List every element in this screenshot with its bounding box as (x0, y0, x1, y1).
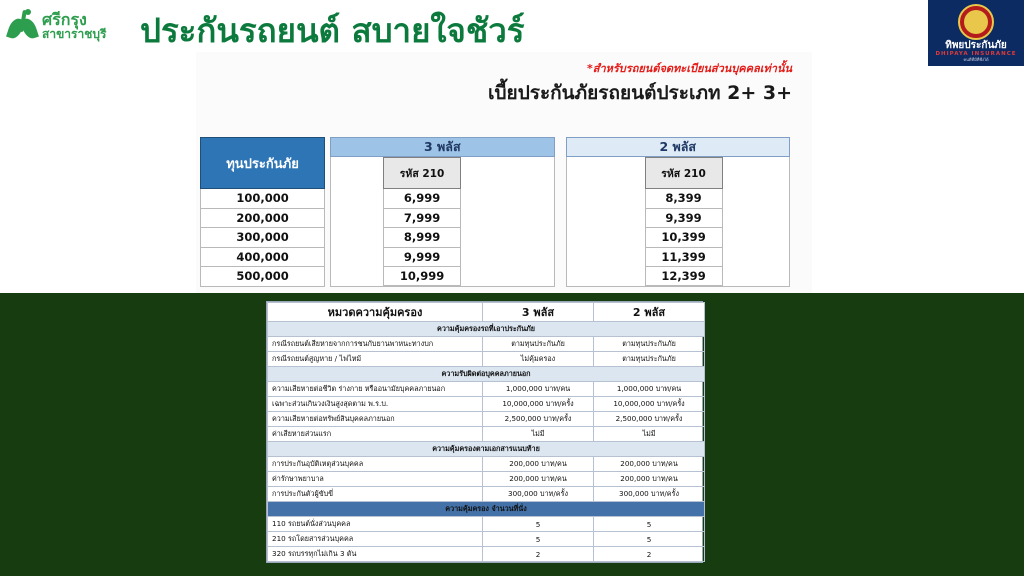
coverage-row-3plus-value: 300,000 บาท/ครั้ง (483, 487, 594, 502)
coverage-row-2plus-value: 10,000,000 บาท/ครั้ง (594, 397, 705, 412)
premium-panel: *สำหรับรถยนต์จดทะเบียนส่วนบุคคลเท่านั้น … (196, 52, 812, 293)
premium-3plus-value: 6,999 (383, 189, 461, 209)
insurer-logo: ทิพยประกันภัย DHIPAYA INSURANCE คนดีที่ม… (928, 0, 1024, 66)
coverage-row-label: การประกันอุบัติเหตุส่วนบุคคล (268, 457, 483, 472)
coverage-row-label: 320 รถบรรทุกไม่เกิน 3 ตัน (268, 547, 483, 562)
coverage-row-2plus-value: 200,000 บาท/คน (594, 472, 705, 487)
coverage-col-header-1: หมวดความคุ้มครอง (268, 303, 483, 322)
coverage-row-label: ค่าเสียหายส่วนแรก (268, 427, 483, 442)
agency-name-line2: สาขาราชบุรี (42, 28, 106, 40)
coverage-row-2plus-value: 300,000 บาท/ครั้ง (594, 487, 705, 502)
insurer-seal-icon (958, 4, 994, 40)
agency-logo: ศรีกรุง สาขาราชบุรี (0, 0, 130, 52)
premium-sum-insured-cell: 200,000 (200, 209, 325, 229)
coverage-row-2plus-value: ไม่มี (594, 427, 705, 442)
premium-3plus-cell-wrap: 10,999 (330, 267, 554, 287)
coverage-table-row: กรณีรถยนต์สูญหาย / ไฟไหม้ไม่คุ้มครองตามท… (268, 352, 705, 367)
premium-code-2plus: รหัส 210 (645, 157, 723, 189)
coverage-section-row: ความรับผิดต่อบุคคลภายนอก (268, 367, 705, 382)
premium-code-row-2plus: รหัส 210 (566, 157, 790, 189)
premium-3plus-cell-wrap: 6,999 (330, 189, 554, 209)
coverage-col-header-2: 3 พลัส (483, 303, 594, 322)
panel-heading: เบี้ยประกันภัยรถยนต์ประเภท 2+ 3+ (488, 78, 792, 108)
coverage-row-2plus-value: 2,500,000 บาท/ครั้ง (594, 412, 705, 427)
coverage-row-3plus-value: 5 (483, 517, 594, 532)
insurer-tagline: คนดีที่มีที่พึ่งได้ (963, 58, 988, 62)
coverage-row-3plus-value: ไม่คุ้มครอง (483, 352, 594, 367)
premium-2plus-value: 8,399 (645, 189, 723, 209)
coverage-section-row: ความคุ้มครอง จำนวนที่นั่ง (268, 502, 705, 517)
coverage-table-row: ค่าเสียหายส่วนแรกไม่มีไม่มี (268, 427, 705, 442)
premium-3plus-cell-wrap: 7,999 (330, 209, 554, 229)
slide-canvas: ศรีกรุง สาขาราชบุรี ประกันรถยนต์ สบายใจช… (0, 0, 1024, 576)
coverage-table-row: ความเสียหายต่อทรัพย์สินบุคคลภายนอก2,500,… (268, 412, 705, 427)
coverage-row-3plus-value: 1,000,000 บาท/คน (483, 382, 594, 397)
coverage-row-3plus-value: 10,000,000 บาท/ครั้ง (483, 397, 594, 412)
coverage-row-3plus-value: 200,000 บาท/คน (483, 472, 594, 487)
coverage-table: หมวดความคุ้มครอง3 พลัส2 พลัส ความคุ้มครอ… (266, 301, 703, 563)
coverage-row-2plus-value: 200,000 บาท/คน (594, 457, 705, 472)
premium-table-row: 200,0007,9999,399 (200, 209, 790, 229)
coverage-row-label: 110 รถยนต์นั่งส่วนบุคคล (268, 517, 483, 532)
coverage-section-row: ความคุ้มครองตามเอกสารแนบท้าย (268, 442, 705, 457)
coverage-table-row: เฉพาะส่วนเกินวงเงินสูงสุดตาม พ.ร.บ.10,00… (268, 397, 705, 412)
premium-group-2plus: 2 พลัส รหัส 210 (566, 137, 790, 189)
coverage-row-3plus-value: 2 (483, 547, 594, 562)
premium-3plus-cell-wrap: 8,999 (330, 228, 554, 248)
coverage-row-label: ความเสียหายต่อทรัพย์สินบุคคลภายนอก (268, 412, 483, 427)
premium-2plus-cell-wrap: 12,399 (566, 267, 790, 287)
coverage-table-row: 210 รถโดยสารส่วนบุคคล55 (268, 532, 705, 547)
coverage-row-2plus-value: ตามทุนประกันภัย (594, 337, 705, 352)
premium-2plus-cell-wrap: 11,399 (566, 248, 790, 268)
coverage-table-header-row: หมวดความคุ้มครอง3 พลัส2 พลัส (268, 303, 705, 322)
panel-note: *สำหรับรถยนต์จดทะเบียนส่วนบุคคลเท่านั้น (587, 59, 792, 77)
premium-group-3plus-label: 3 พลัส (330, 137, 554, 157)
premium-3plus-value: 8,999 (383, 228, 461, 248)
coverage-table-row: การประกันตัวผู้ขับขี่300,000 บาท/ครั้ง30… (268, 487, 705, 502)
coverage-table-row: 320 รถบรรทุกไม่เกิน 3 ตัน22 (268, 547, 705, 562)
premium-table-row: 400,0009,99911,399 (200, 248, 790, 268)
coverage-table-row: กรณีรถยนต์เสียหายจากการชนกับยานพาหนะทางบ… (268, 337, 705, 352)
coverage-row-2plus-value: ตามทุนประกันภัย (594, 352, 705, 367)
premium-2plus-value: 12,399 (645, 267, 723, 286)
premium-group-2plus-label: 2 พลัส (566, 137, 790, 157)
coverage-row-3plus-value: ตามทุนประกันภัย (483, 337, 594, 352)
coverage-row-label: การประกันตัวผู้ขับขี่ (268, 487, 483, 502)
agency-name-line1: ศรีกรุง (42, 12, 106, 28)
premium-sum-insured-header: ทุนประกันภัย (200, 137, 325, 189)
premium-table-group-header-row: ทุนประกันภัย 3 พลัส รหัส 210 2 พลัส รหัส… (200, 137, 790, 189)
premium-sum-insured-cell: 500,000 (200, 267, 325, 287)
premium-table-body: 100,0006,9998,399200,0007,9999,399300,00… (200, 189, 790, 287)
coverage-section-row: ความคุ้มครองรถที่เอาประกันภัย (268, 322, 705, 337)
coverage-row-2plus-value: 5 (594, 532, 705, 547)
premium-2plus-cell-wrap: 10,399 (566, 228, 790, 248)
premium-2plus-value: 9,399 (645, 209, 723, 229)
premium-3plus-value: 10,999 (383, 267, 461, 286)
premium-2plus-value: 11,399 (645, 248, 723, 268)
premium-sum-insured-cell: 300,000 (200, 228, 325, 248)
premium-3plus-value: 9,999 (383, 248, 461, 268)
premium-group-3plus: 3 พลัส รหัส 210 (330, 137, 554, 189)
premium-3plus-value: 7,999 (383, 209, 461, 229)
premium-code-row-3plus: รหัส 210 (330, 157, 554, 189)
coverage-row-label: เฉพาะส่วนเกินวงเงินสูงสุดตาม พ.ร.บ. (268, 397, 483, 412)
premium-sum-insured-cell: 100,000 (200, 189, 325, 209)
coverage-row-2plus-value: 1,000,000 บาท/คน (594, 382, 705, 397)
coverage-row-label: กรณีรถยนต์สูญหาย / ไฟไหม้ (268, 352, 483, 367)
coverage-row-2plus-value: 2 (594, 547, 705, 562)
coverage-row-label: ความเสียหายต่อชีวิต ร่างกาย หรืออนามัยบุ… (268, 382, 483, 397)
coverage-row-3plus-value: ไม่มี (483, 427, 594, 442)
coverage-table-body: ความคุ้มครองรถที่เอาประกันภัยกรณีรถยนต์เ… (268, 322, 705, 562)
premium-2plus-value: 10,399 (645, 228, 723, 248)
coverage-row-3plus-value: 2,500,000 บาท/ครั้ง (483, 412, 594, 427)
premium-table-row: 100,0006,9998,399 (200, 189, 790, 209)
coverage-section-title: ความรับผิดต่อบุคคลภายนอก (268, 367, 705, 382)
coverage-table-row: 110 รถยนต์นั่งส่วนบุคคล55 (268, 517, 705, 532)
premium-table-row: 300,0008,99910,399 (200, 228, 790, 248)
premium-2plus-cell-wrap: 8,399 (566, 189, 790, 209)
coverage-row-label: ค่ารักษาพยาบาล (268, 472, 483, 487)
coverage-row-2plus-value: 5 (594, 517, 705, 532)
coverage-col-header-3: 2 พลัส (594, 303, 705, 322)
coverage-table-row: ความเสียหายต่อชีวิต ร่างกาย หรืออนามัยบุ… (268, 382, 705, 397)
coverage-section-title: ความคุ้มครองรถที่เอาประกันภัย (268, 322, 705, 337)
premium-2plus-cell-wrap: 9,399 (566, 209, 790, 229)
coverage-section-title: ความคุ้มครอง จำนวนที่นั่ง (268, 502, 705, 517)
insurer-name-th: ทิพยประกันภัย (945, 41, 1006, 51)
leaf-icon (8, 10, 38, 42)
coverage-row-3plus-value: 200,000 บาท/คน (483, 457, 594, 472)
coverage-row-label: 210 รถโดยสารส่วนบุคคล (268, 532, 483, 547)
premium-table-row: 500,00010,99912,399 (200, 267, 790, 287)
agency-name: ศรีกรุง สาขาราชบุรี (42, 12, 106, 41)
coverage-table-row: การประกันอุบัติเหตุส่วนบุคคล200,000 บาท/… (268, 457, 705, 472)
page-title: ประกันรถยนต์ สบายใจชัวร์ (140, 4, 525, 57)
coverage-table-row: ค่ารักษาพยาบาล200,000 บาท/คน200,000 บาท/… (268, 472, 705, 487)
premium-sum-insured-cell: 400,000 (200, 248, 325, 268)
premium-code-3plus: รหัส 210 (383, 157, 461, 189)
coverage-section-title: ความคุ้มครองตามเอกสารแนบท้าย (268, 442, 705, 457)
coverage-table-grid: หมวดความคุ้มครอง3 พลัส2 พลัส ความคุ้มครอ… (267, 302, 705, 562)
premium-3plus-cell-wrap: 9,999 (330, 248, 554, 268)
coverage-row-3plus-value: 5 (483, 532, 594, 547)
premium-table: ทุนประกันภัย 3 พลัส รหัส 210 2 พลัส รหัส… (200, 137, 790, 287)
coverage-row-label: กรณีรถยนต์เสียหายจากการชนกับยานพาหนะทางบ… (268, 337, 483, 352)
